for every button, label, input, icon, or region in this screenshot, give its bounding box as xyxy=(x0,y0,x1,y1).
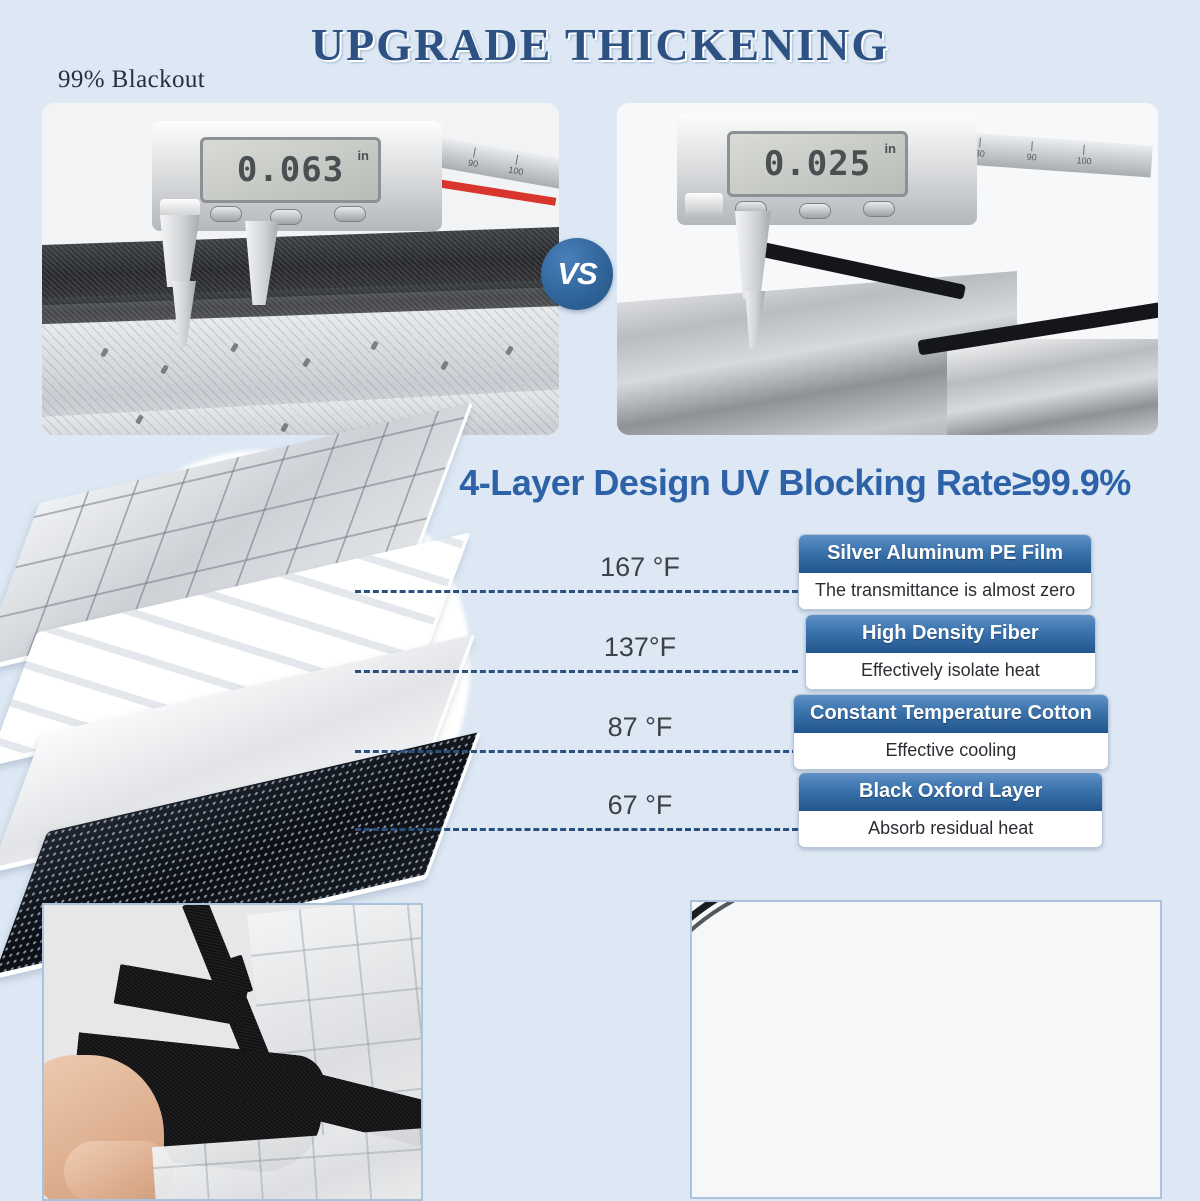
comparison-photo-right: 70 80 90 100 0.025 in xyxy=(617,103,1158,435)
layer-temperature: 87 °F xyxy=(570,712,710,743)
layer-card-title: High Density Fiber xyxy=(806,615,1095,653)
thin-silver-film-right xyxy=(947,339,1158,435)
spring-steel-wire-highlight xyxy=(690,900,1089,1199)
caliper-display: 0.025 in xyxy=(727,131,908,197)
vs-badge: VS xyxy=(541,238,613,310)
layer-card[interactable]: High Density Fiber Effectively isolate h… xyxy=(805,614,1096,690)
layer-card[interactable]: Silver Aluminum PE Film The transmittanc… xyxy=(798,534,1092,610)
layer-connector-line xyxy=(355,670,798,673)
velcro-strap-photo xyxy=(42,903,423,1201)
caliper-jaw-upper xyxy=(735,211,771,299)
caliper-unit-left: in xyxy=(357,148,369,163)
page-title: UPGRADE THICKENING xyxy=(0,18,1200,71)
blackout-label: 99% Blackout xyxy=(58,66,205,94)
layer-connector-line xyxy=(355,750,798,753)
layer-card-title: Silver Aluminum PE Film xyxy=(799,535,1091,573)
caliper-unit-right: in xyxy=(884,141,896,156)
layer-card[interactable]: Constant Temperature Cotton Effective co… xyxy=(793,694,1109,770)
caliper-button[interactable] xyxy=(210,206,242,222)
layer-card-title: Black Oxford Layer xyxy=(799,773,1102,811)
layer-connector-line xyxy=(355,828,798,831)
layer-card-description: Absorb residual heat xyxy=(799,811,1102,847)
caliper-button[interactable] xyxy=(334,206,366,222)
layer-temperature: 167 °F xyxy=(570,552,710,583)
layer-temperature: 67 °F xyxy=(570,790,710,821)
caliper-reading-right: 0.025 xyxy=(764,147,871,181)
layer-card[interactable]: Black Oxford Layer Absorb residual heat xyxy=(798,772,1103,848)
layer-connector-line xyxy=(355,590,798,593)
caliper-display: 0.063 in xyxy=(200,137,381,203)
spring-wire-photo xyxy=(690,900,1162,1199)
layer-row: 67 °F Black Oxford Layer Absorb residual… xyxy=(355,790,1145,886)
caliper-reading-left: 0.063 xyxy=(237,153,344,187)
layer-temperature: 137°F xyxy=(570,632,710,663)
caliper-button[interactable] xyxy=(799,203,831,219)
layer-card-description: Effective cooling xyxy=(794,733,1108,769)
comparison-photo-left: 70 80 90 100 0.063 in xyxy=(42,103,559,435)
caliper-thumb-wheel xyxy=(685,193,723,219)
caliper-button[interactable] xyxy=(863,201,895,217)
layer-card-title: Constant Temperature Cotton xyxy=(794,695,1108,733)
layer-card-description: Effectively isolate heat xyxy=(806,653,1095,689)
layer-card-description: The transmittance is almost zero xyxy=(799,573,1091,609)
layers-section-heading: 4-Layer Design UV Blocking Rate≥99.9% xyxy=(445,462,1145,504)
